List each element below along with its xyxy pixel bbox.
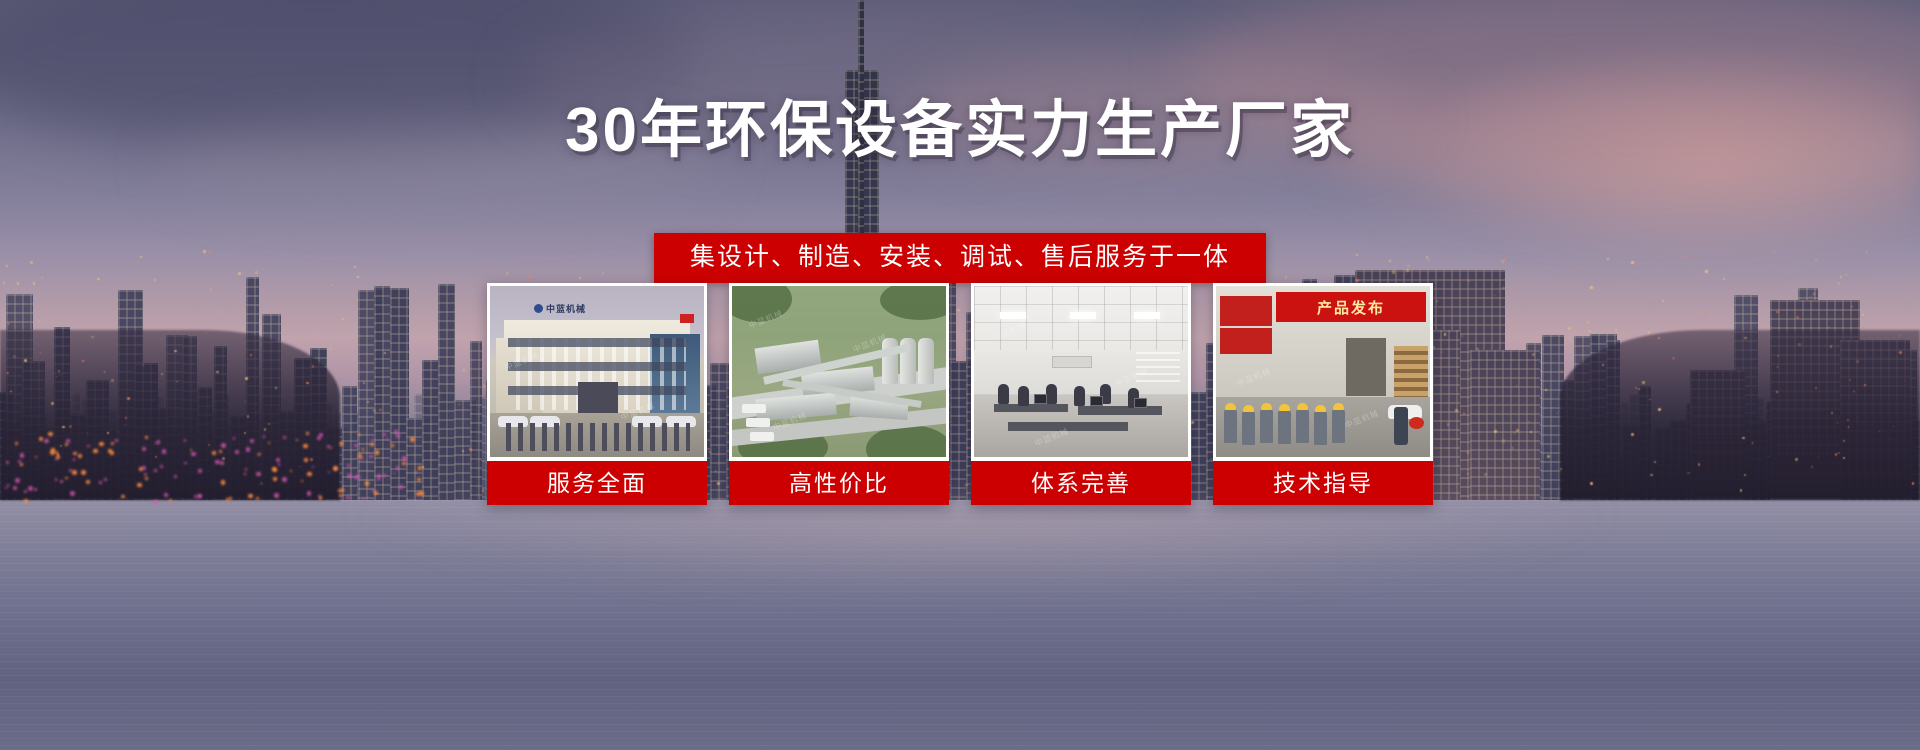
card-caption: 技术指导 bbox=[1213, 461, 1433, 505]
feature-card[interactable]: 中蓝机械 中蓝机械 中蓝机械 体系完善 bbox=[971, 283, 1191, 505]
card-photo-aerial-plant: 中蓝机械 中蓝机械 中蓝机械 bbox=[732, 286, 946, 457]
building-sign: 中蓝机械 bbox=[534, 302, 586, 315]
card-caption: 服务全面 bbox=[487, 461, 707, 505]
feature-card[interactable]: 中蓝机械 中蓝机械 中蓝机械 高性价比 bbox=[729, 283, 949, 505]
card-photo-factory-workshop: 产品发布 中蓝机械 中蓝机械 bbox=[1216, 286, 1430, 457]
card-caption: 高性价比 bbox=[729, 461, 949, 505]
factory-sign: 产品发布 bbox=[1276, 292, 1426, 322]
feature-card[interactable]: 中蓝机械 中蓝机械 中蓝机械 服务全面 bbox=[487, 283, 707, 505]
hero-banner: 30年环保设备实力生产厂家 集设计、制造、安装、调试、售后服务于一体 中蓝机械 bbox=[0, 0, 1920, 750]
feature-card[interactable]: 产品发布 中蓝机械 中蓝机械 技术指导 bbox=[1213, 283, 1433, 505]
subtitle-badge: 集设计、制造、安装、调试、售后服务于一体 bbox=[654, 233, 1266, 283]
card-photo-office-interior: 中蓝机械 中蓝机械 中蓝机械 bbox=[974, 286, 1188, 457]
card-caption: 体系完善 bbox=[971, 461, 1191, 505]
card-photo-company-building: 中蓝机械 中蓝机械 中蓝机械 bbox=[490, 286, 704, 457]
feature-card-list: 中蓝机械 中蓝机械 中蓝机械 服务全面 bbox=[0, 283, 1920, 505]
page-title: 30年环保设备实力生产厂家 bbox=[0, 100, 1920, 162]
